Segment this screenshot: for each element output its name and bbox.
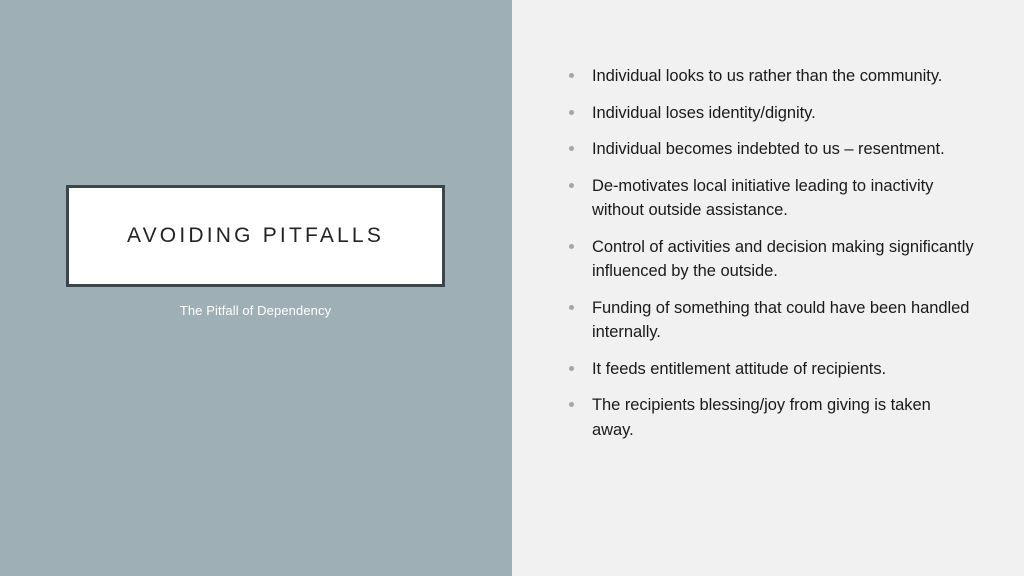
list-item: Funding of something that could have bee… [566, 296, 976, 345]
list-item-text: Individual becomes indebted to us – rese… [592, 137, 976, 162]
bullet-list: Individual looks to us rather than the c… [566, 64, 976, 442]
slide-left-panel: AVOIDING PITFALLS The Pitfall of Depende… [0, 0, 512, 576]
list-item-text: De-motivates local initiative leading to… [592, 174, 976, 223]
bullet-dot-icon [569, 244, 574, 249]
list-item-text: Individual looks to us rather than the c… [592, 64, 976, 89]
bullet-dot-icon [569, 183, 574, 188]
list-item: Individual loses identity/dignity. [566, 101, 976, 126]
list-item: It feeds entitlement attitude of recipie… [566, 357, 976, 382]
list-item-text: Funding of something that could have bee… [592, 296, 976, 345]
list-item-text: Individual loses identity/dignity. [592, 101, 976, 126]
presentation-slide: AVOIDING PITFALLS The Pitfall of Depende… [0, 0, 1024, 576]
bullet-dot-icon [569, 146, 574, 151]
list-item: Individual looks to us rather than the c… [566, 64, 976, 89]
title-box: AVOIDING PITFALLS [66, 185, 445, 287]
list-item: De-motivates local initiative leading to… [566, 174, 976, 223]
bullet-dot-icon [569, 305, 574, 310]
bullet-dot-icon [569, 73, 574, 78]
page-title: AVOIDING PITFALLS [127, 224, 384, 248]
bullet-dot-icon [569, 402, 574, 407]
bullet-dot-icon [569, 366, 574, 371]
list-item-text: The recipients blessing/joy from giving … [592, 393, 976, 442]
list-item-text: It feeds entitlement attitude of recipie… [592, 357, 976, 382]
list-item: Control of activities and decision makin… [566, 235, 976, 284]
list-item-text: Control of activities and decision makin… [592, 235, 976, 284]
slide-right-panel: Individual looks to us rather than the c… [512, 0, 1024, 576]
bullet-dot-icon [569, 110, 574, 115]
slide-subtitle: The Pitfall of Dependency [66, 303, 445, 318]
list-item: Individual becomes indebted to us – rese… [566, 137, 976, 162]
list-item: The recipients blessing/joy from giving … [566, 393, 976, 442]
